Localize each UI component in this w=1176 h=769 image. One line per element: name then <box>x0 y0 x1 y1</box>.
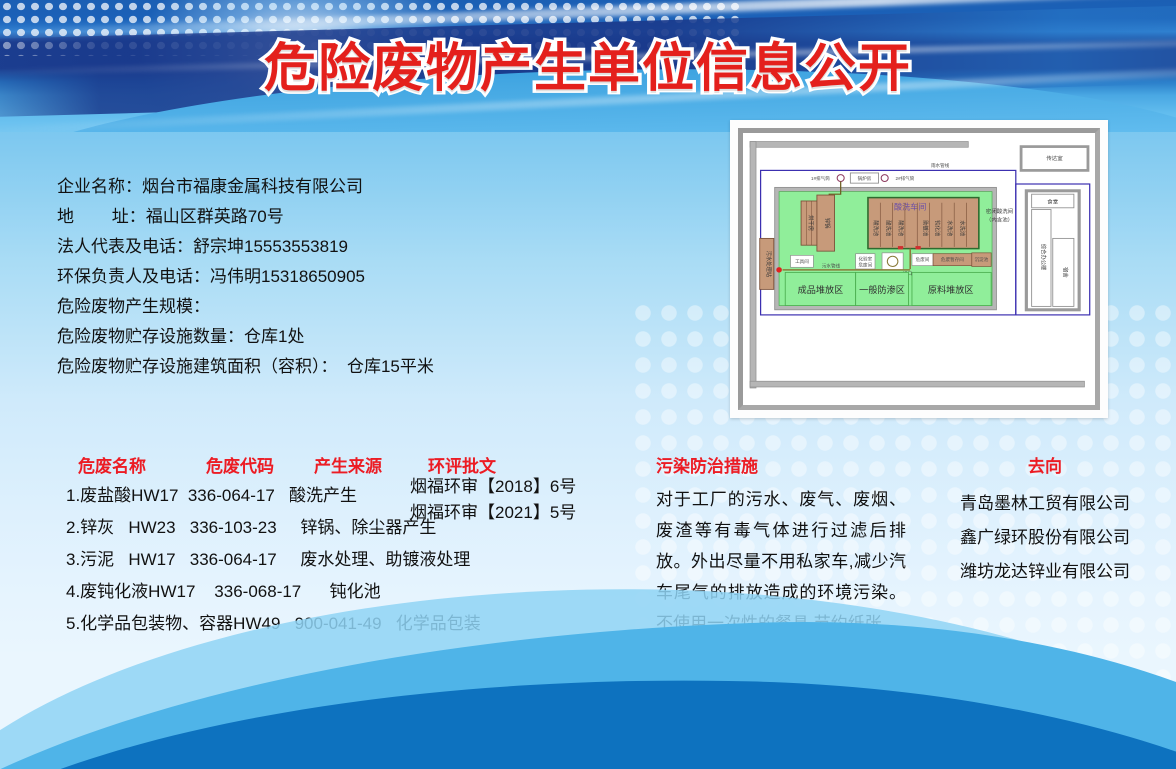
diagram-stack-2-icon <box>881 175 888 182</box>
table-row: 3.污泥 HW17 336-064-17 废水处理、助镀液处理 <box>66 544 636 576</box>
svg-text:危废间: 危废间 <box>916 256 930 263</box>
diagram-label-general-zone: 一般防渗区 <box>859 284 905 295</box>
info-line-address: 地 址：福山区群英路70号 <box>57 202 617 232</box>
diagram-label-stack-1: 1#排气筒 <box>811 175 830 182</box>
diagram-label-hazard-store: 危废暂存间 <box>941 256 964 263</box>
diagram-label-acid-area: 密闭酸洗间 <box>986 207 1013 215</box>
diagram-label-rainwater-pipe: 雨水管线 <box>931 162 950 169</box>
svg-text:沉淀池: 沉淀池 <box>975 256 989 263</box>
diagram-stack-1-icon <box>837 175 844 182</box>
pollution-measures-title: 污染防治措施 <box>656 452 906 477</box>
list-item: 潍坊龙达锌业有限公司 <box>930 555 1160 589</box>
info-line-storage-count: 危险废物贮存设施数量：仓库1处 <box>57 322 617 352</box>
list-item: 鑫广绿环股份有限公司 <box>930 521 1160 555</box>
diagram-outfall-marker <box>776 267 782 272</box>
eia-approval-item: 烟福环审【2021】5号 <box>410 500 640 526</box>
svg-text:危废间: 危废间 <box>858 262 872 269</box>
diagram-label-tool-room: 工具间 <box>795 258 809 265</box>
waste-col-name: 危废名称 <box>78 452 146 477</box>
company-info-block: 企业名称：烟台市福康金属科技有限公司 地 址：福山区群英路70号 法人代表及电话… <box>57 172 617 382</box>
page-title: 危险废物产生单位信息公开 <box>0 42 1176 97</box>
diagram-label-sewage-pipe: 污水管线 <box>822 262 841 269</box>
diagram-label-gatehouse: 传达室 <box>1046 154 1063 162</box>
factory-layout-photo-frame: 传达室 食堂 综合办公楼 宿舍 雨水管线 1#排气筒 锅炉房 <box>730 120 1108 418</box>
diagram-label-acid-area-2: （内含池） <box>986 216 1013 224</box>
diagram-label-boiler: 锅炉房 <box>858 175 872 182</box>
diagram-pit-icon <box>887 256 898 266</box>
eia-approval-list: 烟福环审【2018】6号 烟福环审【2021】5号 <box>410 474 640 526</box>
waste-col-code: 危废代码 <box>206 452 274 477</box>
diagram-label-stack-2: 2#排气筒 <box>896 175 915 182</box>
info-line-company-name: 企业名称：烟台市福康金属科技有限公司 <box>57 172 617 202</box>
diagram-label-finished-zone: 成品堆放区 <box>798 284 844 295</box>
destination-block: 去向 青岛墨林工贸有限公司 鑫广绿环股份有限公司 潍坊龙达锌业有限公司 <box>930 452 1160 589</box>
destination-title: 去向 <box>930 452 1160 477</box>
list-item: 青岛墨林工贸有限公司 <box>930 487 1160 521</box>
diagram-label-pickling-hall: 酸洗车间 <box>894 202 926 212</box>
info-line-storage-area: 危险废物贮存设施建筑面积（容积）： 仓库15平米 <box>57 352 617 382</box>
poster-root: 危险废物产生单位信息公开 企业名称：烟台市福康金属科技有限公司 地 址：福山区群… <box>0 0 1176 769</box>
info-line-waste-scale: 危险废物产生规模： <box>57 292 617 322</box>
waste-col-source: 产生来源 <box>314 452 382 477</box>
factory-layout-diagram: 传达室 食堂 综合办公楼 宿舍 雨水管线 1#排气筒 锅炉房 <box>743 133 1095 405</box>
eia-approval-item: 烟福环审【2018】6号 <box>410 474 640 500</box>
diagram-label-sample-room: 化验室 <box>858 256 872 263</box>
diagram-label-raw-zone: 原料堆放区 <box>928 284 974 295</box>
info-line-env-officer: 环保负责人及电话：冯伟明15318650905 <box>57 262 617 292</box>
info-line-legal-rep: 法人代表及电话：舒宗坤15553553819 <box>57 232 617 262</box>
factory-layout-bevel: 传达室 食堂 综合办公楼 宿舍 雨水管线 1#排气筒 锅炉房 <box>738 128 1100 410</box>
diagram-label-canteen: 食堂 <box>1047 198 1059 206</box>
